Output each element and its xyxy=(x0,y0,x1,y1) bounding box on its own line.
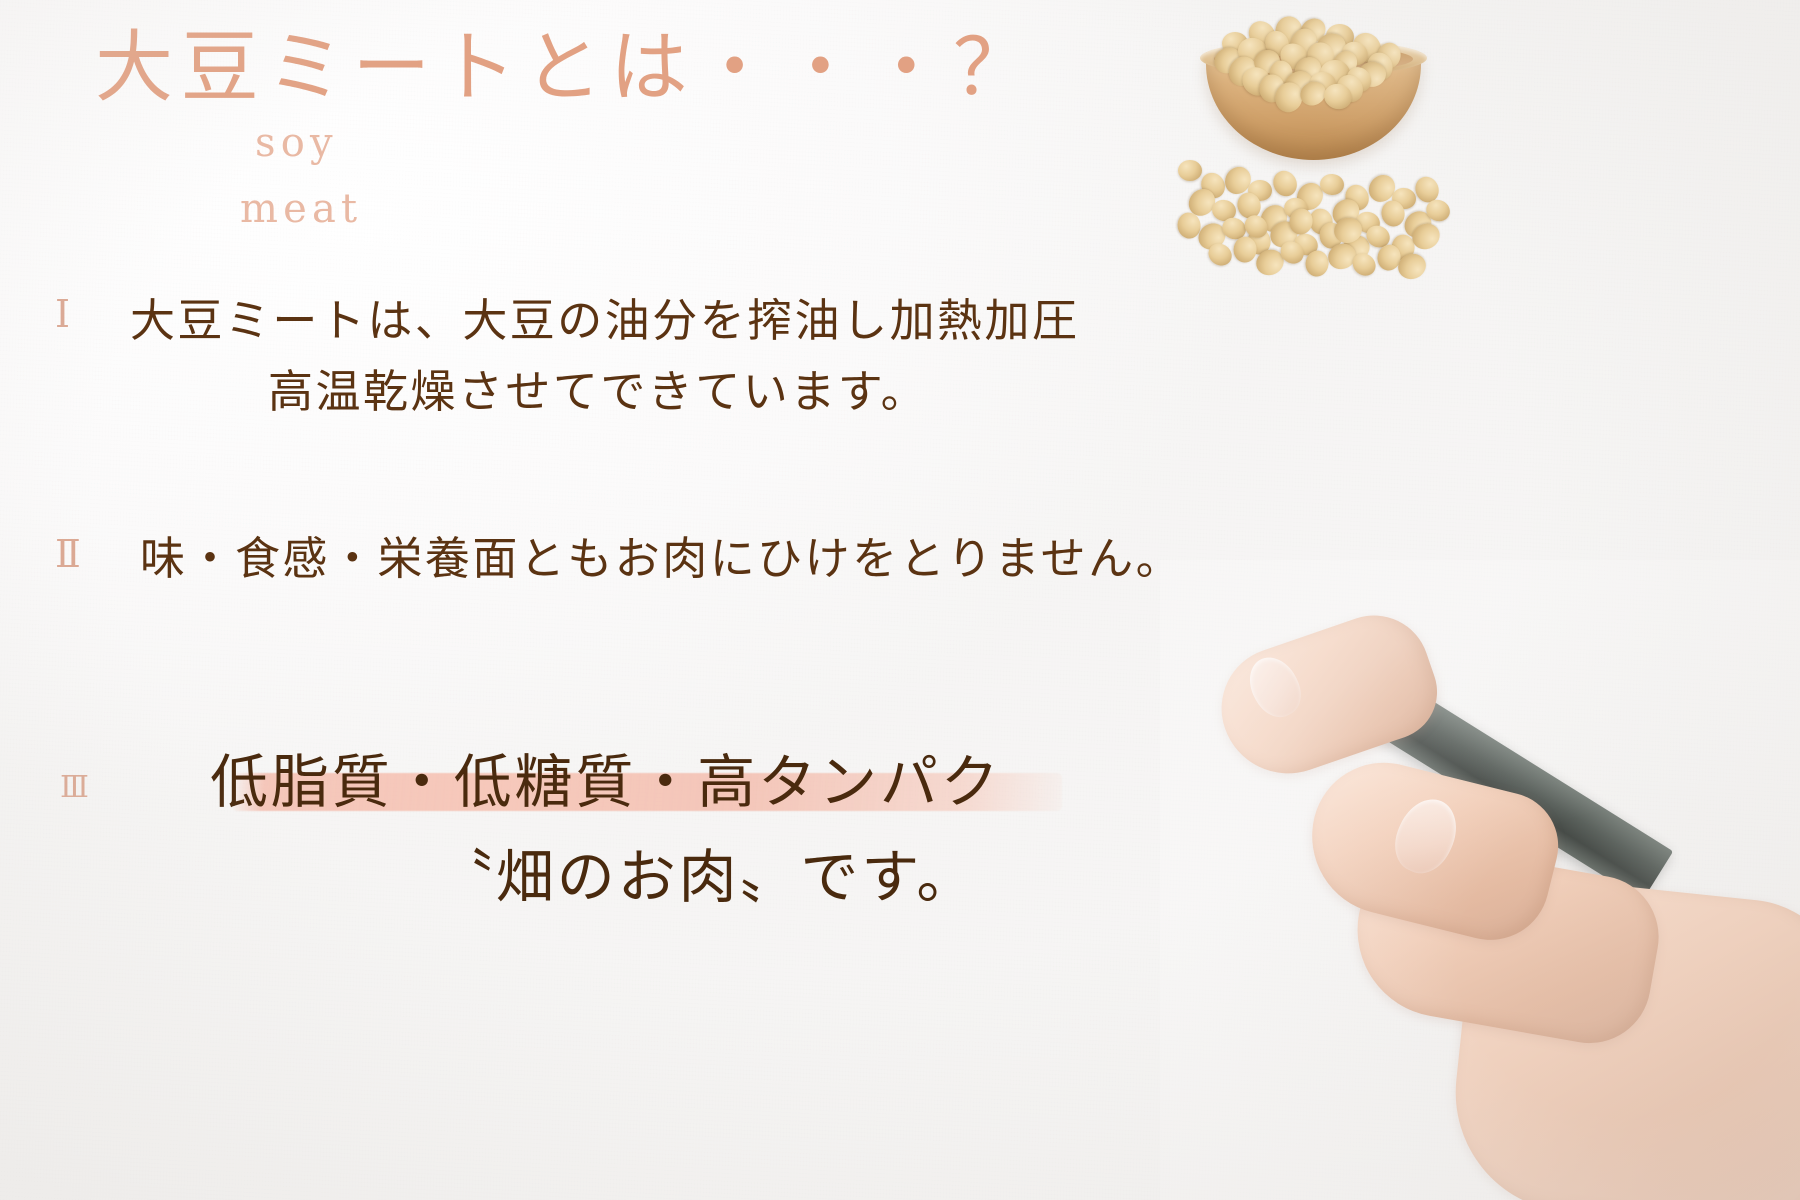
hand-index-finger xyxy=(1205,600,1450,791)
highlighted-line-wrapper: 低脂質・低糖質・高タンパク xyxy=(210,735,1002,819)
list-item-3-line-1: 低脂質・低糖質・高タンパク xyxy=(210,735,1002,819)
page-title: 大豆ミートとは・・・？ xyxy=(95,28,1039,110)
soybean xyxy=(1233,236,1258,264)
list-item-numeral-2: Ⅱ xyxy=(55,532,81,576)
list-item-2-line-1: 味・食感・栄養面ともお肉にひけをとりません。 xyxy=(140,522,1183,587)
list-item-numeral-1: Ⅰ xyxy=(55,292,70,336)
soybean-bowl-image xyxy=(1170,10,1470,275)
list-item-1-line-2: 高温乾燥させてできています。 xyxy=(268,355,928,420)
hand-holding-pencil-image xyxy=(1160,560,1800,1200)
list-item-3-line-2: 〝畑のお肉〟です。 xyxy=(435,830,977,914)
subtitle-meat: meat xyxy=(240,186,362,232)
soybean xyxy=(1178,160,1202,181)
title-block: 大豆ミートとは・・・？ xyxy=(95,28,1039,110)
list-item-numeral-3: Ⅲ xyxy=(60,770,89,805)
list-item-1-line-1: 大豆ミートは、大豆の油分を搾油し加熱加圧 xyxy=(130,284,1080,349)
subtitle-soy: soy xyxy=(255,120,338,166)
